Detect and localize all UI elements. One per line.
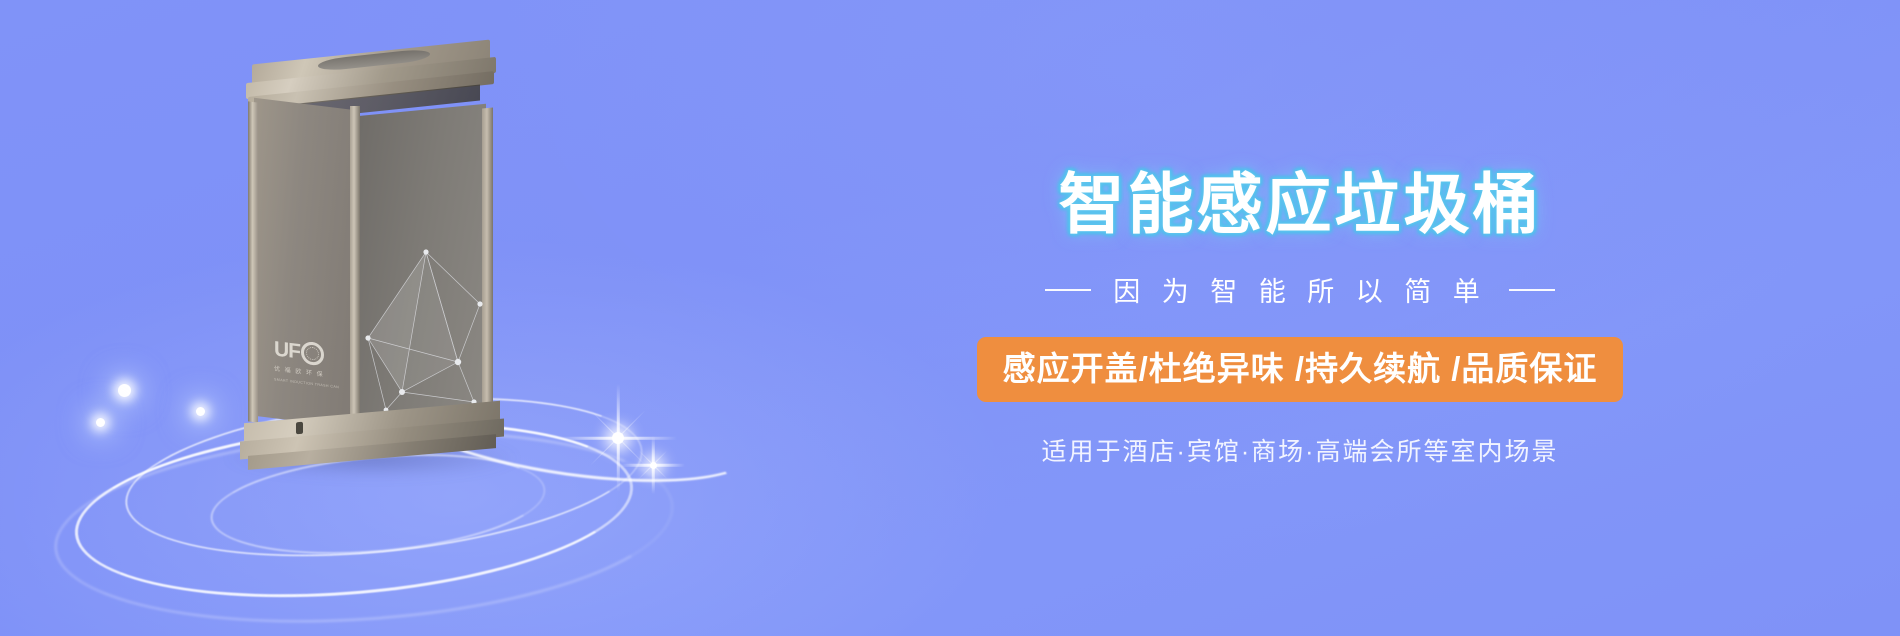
promo-banner: UF 优 福 欧 环 保 SMART INDUCTION TRASH CAN 智… xyxy=(0,0,1900,636)
sparkle-dot-1 xyxy=(118,384,131,397)
subtitle-dash-right xyxy=(1509,289,1555,291)
features-badge: 感应开盖/杜绝异味 /持久续航 /品质保证 xyxy=(977,337,1624,402)
bin-body-right-panel xyxy=(356,104,486,439)
brand-ring-icon xyxy=(301,341,324,367)
subtitle-text: 因 为 智 能 所 以 简 单 xyxy=(1113,270,1487,309)
page-title: 智能感应垃圾桶 xyxy=(1059,168,1542,241)
brand-logo: UF 优 福 欧 环 保 SMART INDUCTION TRASH CAN xyxy=(274,337,350,404)
trash-bin-product: UF 优 福 欧 环 保 SMART INDUCTION TRASH CAN xyxy=(238,52,506,452)
usage-scenarios-text: 适用于酒店·宾馆·商场·高端会所等室内场景 xyxy=(1042,432,1559,468)
copy-block: 智能感应垃圾桶 因 为 智 能 所 以 简 单 感应开盖/杜绝异味 /持久续航 … xyxy=(880,0,1720,636)
bin-edge-right xyxy=(482,107,493,428)
bin-base-lock-icon xyxy=(296,422,303,435)
sparkle-dot-3 xyxy=(196,407,205,416)
sparkle-dot-2 xyxy=(96,418,105,427)
bin-edge-center xyxy=(350,106,360,432)
brand-wordmark-text: UF xyxy=(274,338,300,362)
subtitle-dash-left xyxy=(1045,289,1091,291)
bin-edge-left xyxy=(248,101,258,422)
subtitle-row: 因 为 智 能 所 以 简 单 xyxy=(1045,270,1555,309)
product-stage: UF 优 福 欧 环 保 SMART INDUCTION TRASH CAN xyxy=(60,0,820,636)
